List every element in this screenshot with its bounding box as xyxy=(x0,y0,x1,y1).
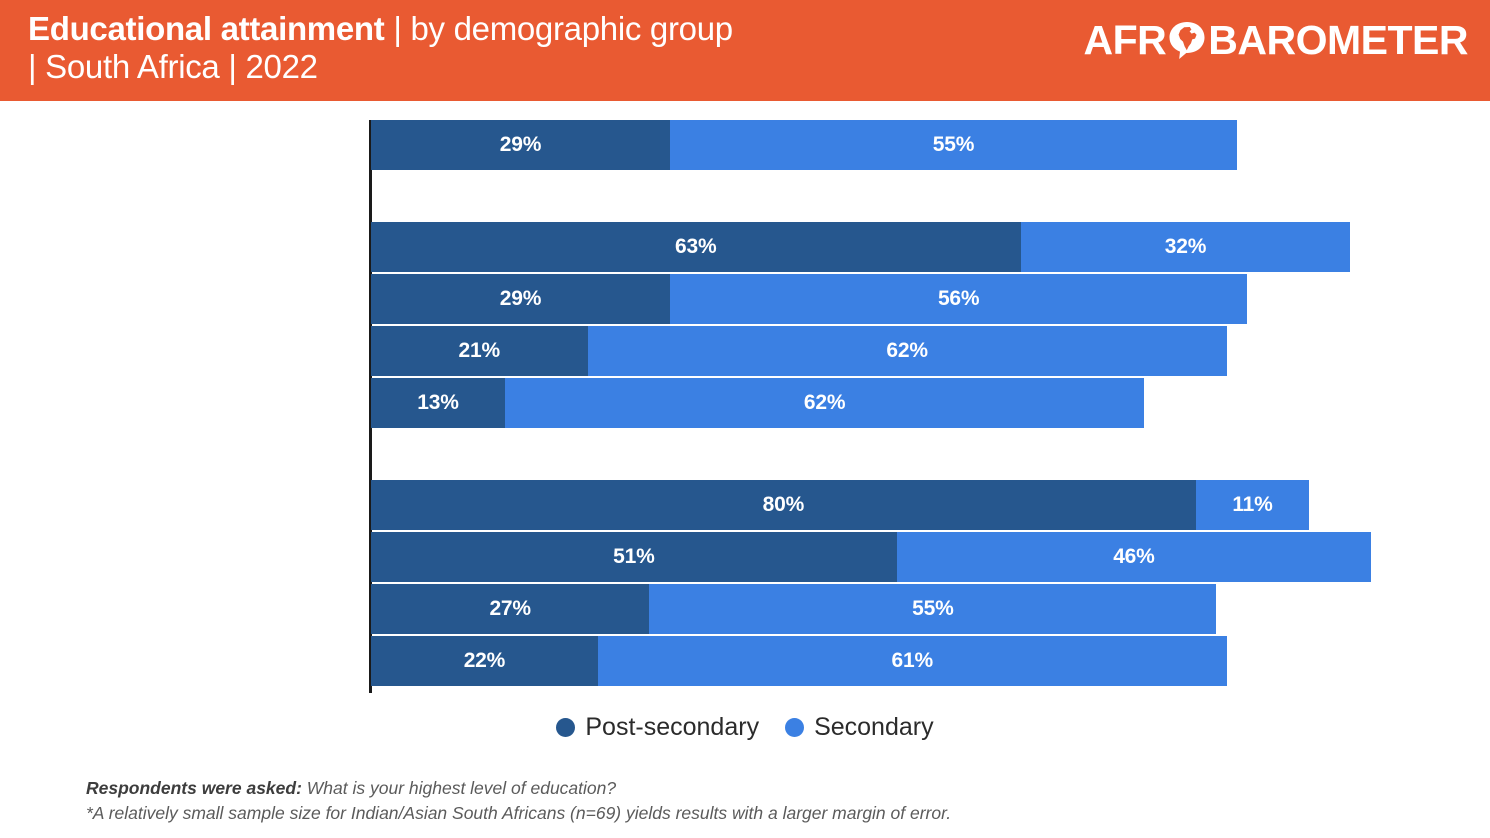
stacked-bar: 51%46% xyxy=(371,532,1371,582)
afrobarometer-logo: AFR BAROMETER xyxy=(1084,0,1490,62)
bar-segment-post-secondary: 29% xyxy=(371,120,670,170)
chart-legend: Post-secondarySecondary xyxy=(0,713,1490,742)
bar-segment-secondary: 61% xyxy=(598,636,1227,686)
bar-segment-secondary: 56% xyxy=(670,274,1247,324)
note-question: Respondents were asked: What is your hig… xyxy=(86,776,1426,801)
title-strong: Educational attainment xyxy=(28,10,384,47)
legend-item-secondary[interactable]: Secondary xyxy=(785,713,934,742)
stacked-bar: 29%56% xyxy=(371,274,1247,324)
bar-segment-post-secondary: 21% xyxy=(371,326,588,376)
bar-segment-post-secondary: 22% xyxy=(371,636,598,686)
logo-text-part-1: AFR xyxy=(1084,18,1167,62)
stacked-bar: 13%62% xyxy=(371,378,1144,428)
chart-page: Educational attainment | by demographic … xyxy=(0,0,1490,838)
bar-segment-secondary: 62% xyxy=(505,378,1144,428)
bar-segment-post-secondary: 80% xyxy=(371,480,1196,530)
stacked-bar: 22%61% xyxy=(371,636,1227,686)
legend-label: Post-secondary xyxy=(585,713,759,742)
bar-segment-secondary: 32% xyxy=(1021,222,1351,272)
stacked-bar-chart: Average29%55%No lived poverty63%32%Low l… xyxy=(0,101,1490,713)
bar-segment-post-secondary: 29% xyxy=(371,274,670,324)
stacked-bar: 63%32% xyxy=(371,222,1350,272)
title-line-2: | South Africa | 2022 xyxy=(28,48,733,86)
bar-segment-secondary: 11% xyxy=(1196,480,1309,530)
stacked-bar: 21%62% xyxy=(371,326,1227,376)
legend-label: Secondary xyxy=(814,713,934,742)
title-line-1: Educational attainment | by demographic … xyxy=(28,10,733,48)
africa-speech-bubble-icon xyxy=(1167,20,1207,60)
stacked-bar: 27%55% xyxy=(371,584,1216,634)
legend-dot-icon xyxy=(556,718,575,737)
bar-segment-post-secondary: 27% xyxy=(371,584,649,634)
stacked-bar: 29%55% xyxy=(371,120,1237,170)
legend-item-post-secondary[interactable]: Post-secondary xyxy=(556,713,759,742)
legend-dot-icon xyxy=(785,718,804,737)
bar-segment-secondary: 55% xyxy=(649,584,1216,634)
bar-segment-secondary: 55% xyxy=(670,120,1237,170)
bar-segment-post-secondary: 13% xyxy=(371,378,505,428)
logo-text-part-2: BAROMETER xyxy=(1208,18,1468,62)
title-rest: | by demographic group xyxy=(384,10,732,47)
note-footnote: *A relatively small sample size for Indi… xyxy=(86,801,1426,826)
bar-segment-post-secondary: 51% xyxy=(371,532,897,582)
bar-segment-secondary: 46% xyxy=(897,532,1371,582)
bar-segment-post-secondary: 63% xyxy=(371,222,1021,272)
chart-notes: Respondents were asked: What is your hig… xyxy=(86,776,1426,826)
stacked-bar: 80%11% xyxy=(371,480,1309,530)
bar-segment-secondary: 62% xyxy=(588,326,1227,376)
note-question-lead: Respondents were asked: xyxy=(86,778,302,798)
chart-header-banner: Educational attainment | by demographic … xyxy=(0,0,1490,101)
page-title: Educational attainment | by demographic … xyxy=(0,0,733,86)
note-question-text: What is your highest level of education? xyxy=(302,778,616,798)
